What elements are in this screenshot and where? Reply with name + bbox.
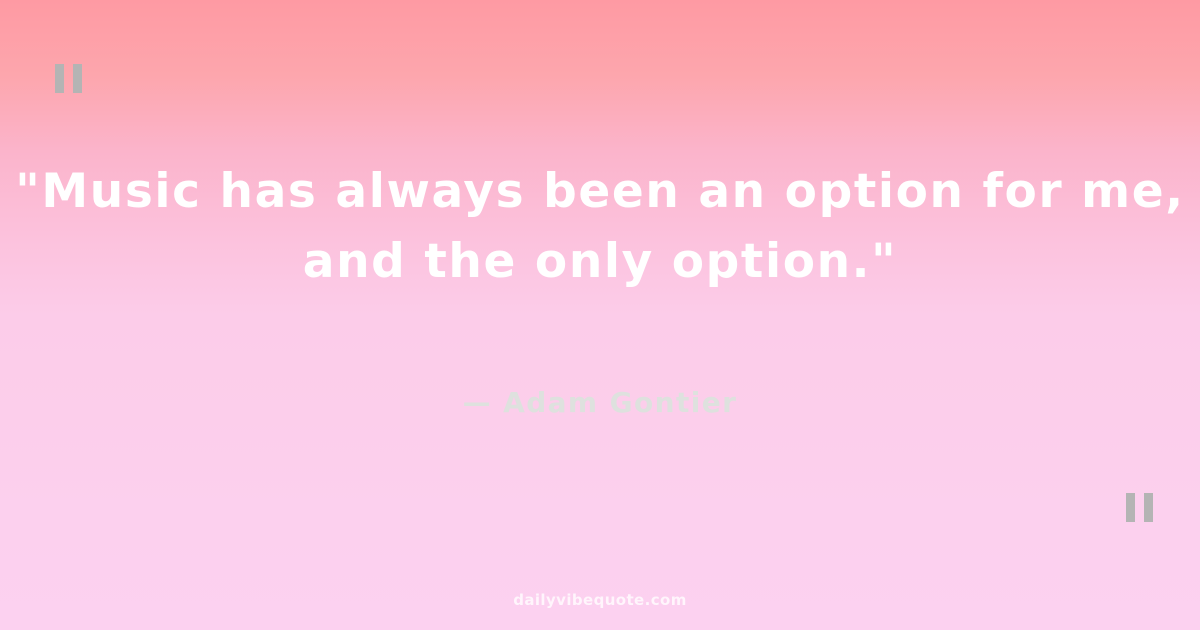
quote-mark-icon-bottom-right [1126, 493, 1153, 522]
site-credit: dailyvibequote.com [0, 593, 1200, 608]
quote-attribution: — Adam Gontier [463, 389, 738, 417]
quote-bar-right [1144, 493, 1153, 522]
quote-bar-left [1126, 493, 1135, 522]
quote-card: "Music has always been an option for me,… [0, 0, 1200, 630]
quote-text: "Music has always been an option for me,… [0, 157, 1200, 297]
quote-content: "Music has always been an option for me,… [0, 0, 1200, 630]
